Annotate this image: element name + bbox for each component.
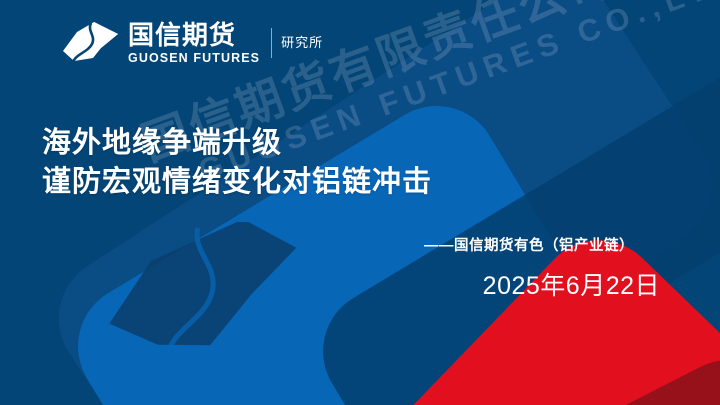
slide-subtitle: ——国信期货有色（铝产业链）	[424, 234, 634, 255]
logo-department-cn: 研究所	[281, 32, 323, 51]
decorative-shape-blue-deep	[300, 42, 720, 405]
presentation-title-slide: 国信期货有限责任公司 GUOSEN FUTURES CO.,LTD. 国信期货 …	[0, 0, 720, 405]
slide-title-line-2: 谨防宏观情绪变化对铝链冲击	[42, 163, 432, 202]
guosen-folded-pages-mark-icon	[60, 20, 122, 66]
logo-wordmark: 国信期货 GUOSEN FUTURES	[128, 22, 260, 65]
guosen-futures-logo: 国信期货 GUOSEN FUTURES 研究所	[60, 20, 323, 66]
slide-title: 海外地缘争端升级 谨防宏观情绪变化对铝链冲击	[42, 124, 432, 201]
logo-company-cn: 国信期货	[128, 22, 260, 48]
logo-company-en: GUOSEN FUTURES	[128, 52, 260, 65]
decorative-shape-red-overlap	[400, 338, 720, 405]
slide-date: 2025年6月22日	[483, 266, 660, 302]
logo-divider	[271, 28, 272, 58]
background-logo-mark-icon	[100, 222, 305, 352]
slide-title-line-1: 海外地缘争端升级	[42, 124, 432, 163]
